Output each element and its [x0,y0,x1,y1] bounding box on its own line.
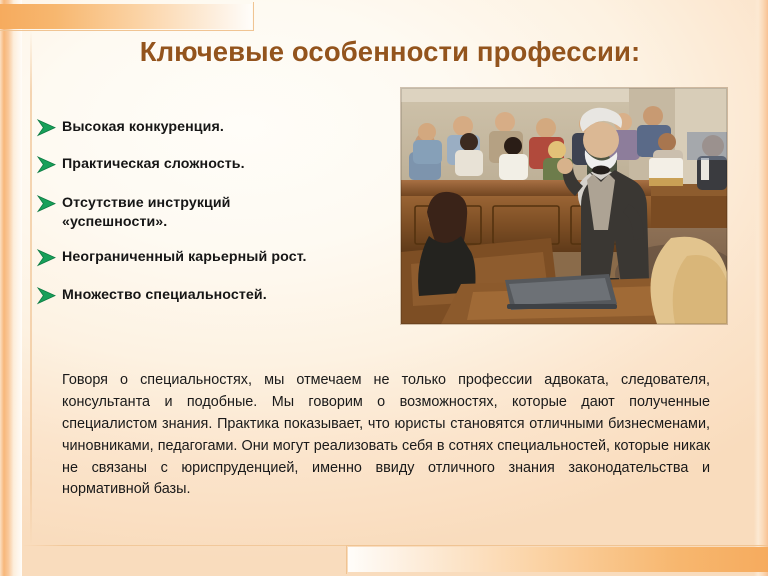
list-item-label: Практическая сложность. [62,155,245,174]
green-arrow-bullet-icon [36,194,62,213]
slide-title: Ключевые особенности профессии: [60,36,720,68]
list-item-label: Неограниченный карьерный рост. [62,248,307,267]
list-item: Множество специальностей. [36,286,396,305]
presentation-slide: Ключевые особенности профессии: Высокая … [0,0,768,576]
green-arrow-bullet-icon [36,286,62,305]
list-item: Отсутствие инструкций «успешности». [36,194,396,231]
list-item: Высокая конкуренция. [36,118,396,137]
list-item: Неограниченный карьерный рост. [36,248,396,267]
decorative-bottom-outline [346,545,768,574]
decorative-right-stripe [754,0,768,576]
body-paragraph: Говоря о специальностях, мы отмечаем не … [62,370,710,501]
decorative-inner-left-line [30,30,32,546]
decorative-top-outline [0,2,254,31]
green-arrow-bullet-icon [36,248,62,267]
courtroom-photo [401,88,727,324]
list-item: Практическая сложность. [36,155,396,174]
green-arrow-bullet-icon [36,155,62,174]
key-features-list: Высокая конкуренция. Практическая сложно… [36,118,396,305]
green-arrow-bullet-icon [36,118,62,137]
decorative-left-stripe [0,0,22,576]
list-item-label: Отсутствие инструкций «успешности». [62,194,262,231]
list-item-label: Множество специальностей. [62,286,267,305]
list-item-label: Высокая конкуренция. [62,118,224,137]
